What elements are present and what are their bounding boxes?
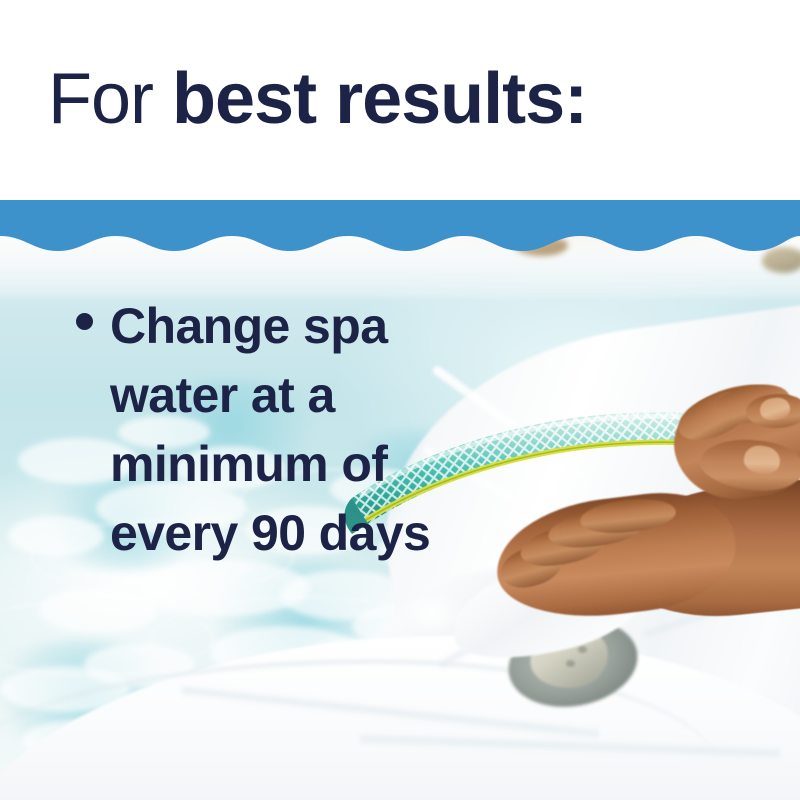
- list-item: Change spa water at a minimum of every 9…: [76, 292, 496, 568]
- page-title: For best results:: [48, 57, 587, 141]
- headline-band: For best results:: [0, 0, 800, 200]
- bullet-dot-icon: [76, 313, 93, 330]
- headline-bold-text: best results:: [172, 59, 587, 139]
- spa-jet-port: [566, 660, 575, 667]
- poster-canvas: For best results: Change spa water at a …: [0, 0, 800, 800]
- water-splash: [398, 596, 468, 638]
- bullet-list: Change spa water at a minimum of every 9…: [76, 292, 496, 568]
- bullet-item-text: Change spa water at a minimum of every 9…: [110, 292, 470, 568]
- spa-jet-port: [578, 646, 587, 653]
- headline-light-text: For: [48, 59, 172, 139]
